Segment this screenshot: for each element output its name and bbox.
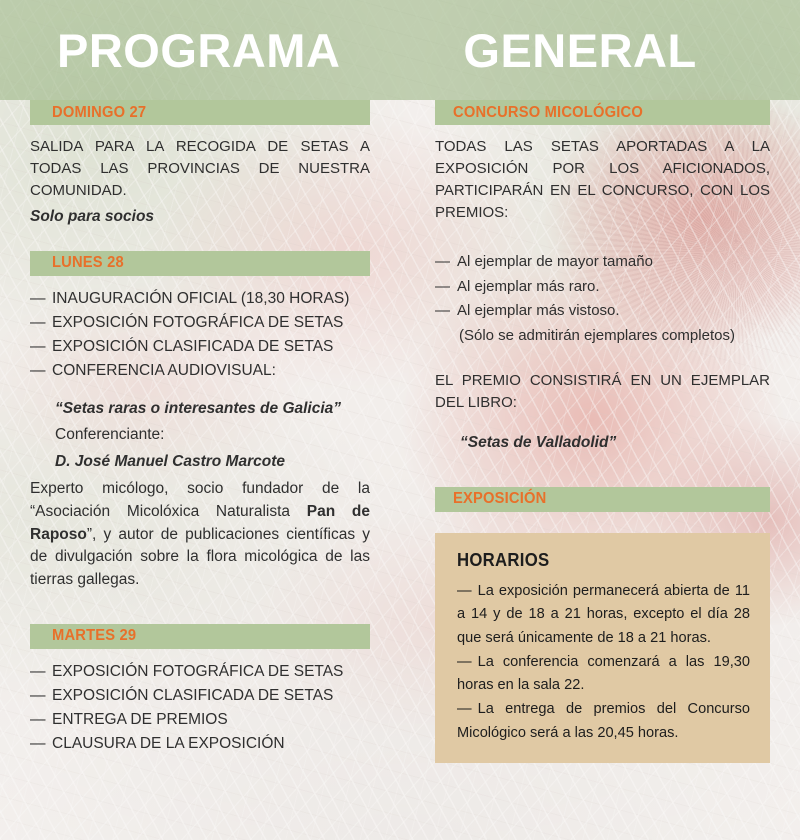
page-title-programa: PROGRAMA bbox=[57, 27, 340, 74]
section-label: DOMINGO 27 bbox=[52, 104, 146, 122]
list-item-label: CLAUSURA DE LA EXPOSICIÓN bbox=[52, 735, 285, 752]
domingo-description: SALIDA PARA LA RECOGIDA DE SETAS A TODAS… bbox=[30, 136, 370, 202]
section-label: LUNES 28 bbox=[52, 254, 124, 272]
book-prize-intro: EL PREMIO CONSISTIRÁ EN UN EJEMPLAR DEL … bbox=[435, 370, 770, 414]
section-label: EXPOSICIÓN bbox=[453, 490, 546, 508]
list-item: —EXPOSICIÓN FOTOGRÁFICA DE SETAS bbox=[30, 311, 370, 335]
left-column: DOMINGO 27 SALIDA PARA LA RECOGIDA DE SE… bbox=[30, 100, 370, 757]
schedule-item-label: La exposición permanecerá abierta de 11 … bbox=[457, 583, 750, 646]
schedule-item: —La entrega de premios del Concurso Mico… bbox=[457, 698, 750, 745]
list-item: —EXPOSICIÓN CLASIFICADA DE SETAS bbox=[30, 684, 370, 708]
list-item-label: ENTREGA DE PREMIOS bbox=[52, 711, 228, 728]
list-item: —Al ejemplar de mayor tamaño bbox=[435, 250, 770, 274]
conference-speaker-bio: Experto micólogo, socio fundador de la “… bbox=[30, 478, 370, 592]
list-item: —EXPOSICIÓN FOTOGRÁFICA DE SETAS bbox=[30, 660, 370, 684]
dash-icon: — bbox=[457, 701, 472, 717]
list-item-label: CONFERENCIA AUDIOVISUAL: bbox=[52, 362, 276, 379]
right-column: CONCURSO MICOLÓGICO TODAS LAS SETAS APOR… bbox=[435, 100, 770, 763]
lunes-activity-list: —INAUGURACIÓN OFICIAL (18,30 horas) —EXP… bbox=[30, 287, 370, 384]
dash-icon: — bbox=[30, 335, 46, 359]
section-header-domingo-27: DOMINGO 27 bbox=[30, 100, 370, 125]
conference-speaker-name: D. José Manuel Castro Marcote bbox=[55, 451, 370, 474]
list-item-label: EXPOSICIÓN CLASIFICADA DE SETAS bbox=[52, 687, 333, 704]
dash-icon: — bbox=[30, 660, 46, 684]
martes-activity-list: —EXPOSICIÓN FOTOGRÁFICA DE SETAS —EXPOSI… bbox=[30, 660, 370, 757]
schedule-box-title: HORARIOS bbox=[457, 550, 729, 571]
dash-icon: — bbox=[30, 287, 46, 311]
schedule-item-label: La conferencia comenzará a las 19,30 hor… bbox=[457, 654, 750, 694]
list-item-label: Al ejemplar más vistoso. bbox=[457, 302, 620, 319]
section-label: MARTES 29 bbox=[52, 627, 136, 645]
prize-condition-note: (Sólo se admitirán ejemplares completos) bbox=[435, 324, 770, 348]
schedule-item: —La conferencia comenzará a las 19,30 ho… bbox=[457, 651, 750, 698]
conference-talk-title: “Setas raras o interesantes de Galicia” bbox=[55, 398, 370, 421]
dash-icon: — bbox=[30, 708, 46, 732]
list-item-label: EXPOSICIÓN FOTOGRÁFICA DE SETAS bbox=[52, 314, 343, 331]
section-label: CONCURSO MICOLÓGICO bbox=[453, 104, 643, 122]
dash-icon: — bbox=[457, 654, 472, 670]
book-prize-title: “Setas de Valladolid” bbox=[460, 432, 770, 455]
list-item: —Al ejemplar más vistoso. bbox=[435, 299, 770, 323]
dash-icon: — bbox=[30, 684, 46, 708]
section-header-lunes-28: LUNES 28 bbox=[30, 251, 370, 276]
list-item-label: EXPOSICIÓN CLASIFICADA DE SETAS bbox=[52, 338, 333, 355]
list-item: —ENTREGA DE PREMIOS bbox=[30, 708, 370, 732]
dash-icon: — bbox=[30, 732, 46, 756]
list-item: —CONFERENCIA AUDIOVISUAL: bbox=[30, 359, 370, 383]
list-item-label: EXPOSICIÓN FOTOGRÁFICA DE SETAS bbox=[52, 663, 343, 680]
list-item: —EXPOSICIÓN CLASIFICADA DE SETAS bbox=[30, 335, 370, 359]
section-header-exposicion: EXPOSICIÓN bbox=[435, 487, 770, 512]
dash-icon: — bbox=[457, 583, 472, 599]
dash-icon: — bbox=[435, 250, 450, 274]
dash-icon: — bbox=[435, 275, 450, 299]
prize-list: —Al ejemplar de mayor tamaño —Al ejempla… bbox=[435, 250, 770, 323]
list-item-label: Al ejemplar de mayor tamaño bbox=[457, 253, 653, 270]
concurso-description: TODAS LAS SETAS APORTADAS A LA EXPOSICIÓ… bbox=[435, 136, 770, 224]
section-header-martes-29: MARTES 29 bbox=[30, 624, 370, 649]
domingo-note: Solo para socios bbox=[30, 206, 370, 229]
page-header: PROGRAMA GENERAL bbox=[0, 0, 800, 100]
schedule-box: HORARIOS —La exposición permanecerá abie… bbox=[435, 533, 770, 763]
content-columns: DOMINGO 27 SALIDA PARA LA RECOGIDA DE SE… bbox=[0, 100, 800, 840]
dash-icon: — bbox=[30, 359, 46, 383]
dash-icon: — bbox=[435, 299, 450, 323]
list-item: —CLAUSURA DE LA EXPOSICIÓN bbox=[30, 732, 370, 756]
list-item-label: INAUGURACIÓN OFICIAL (18,30 horas) bbox=[52, 290, 349, 307]
list-item: —INAUGURACIÓN OFICIAL (18,30 horas) bbox=[30, 287, 370, 311]
page-title-general: GENERAL bbox=[463, 27, 696, 74]
section-header-concurso-micologico: CONCURSO MICOLÓGICO bbox=[435, 100, 770, 125]
conference-speaker-label: Conferenciante: bbox=[55, 424, 370, 447]
list-item-label: Al ejemplar más raro. bbox=[457, 278, 600, 295]
dash-icon: — bbox=[30, 311, 46, 335]
list-item: —Al ejemplar más raro. bbox=[435, 275, 770, 299]
schedule-item: —La exposición permanecerá abierta de 11… bbox=[457, 580, 750, 651]
schedule-item-label: La entrega de premios del Concurso Micol… bbox=[457, 701, 750, 741]
